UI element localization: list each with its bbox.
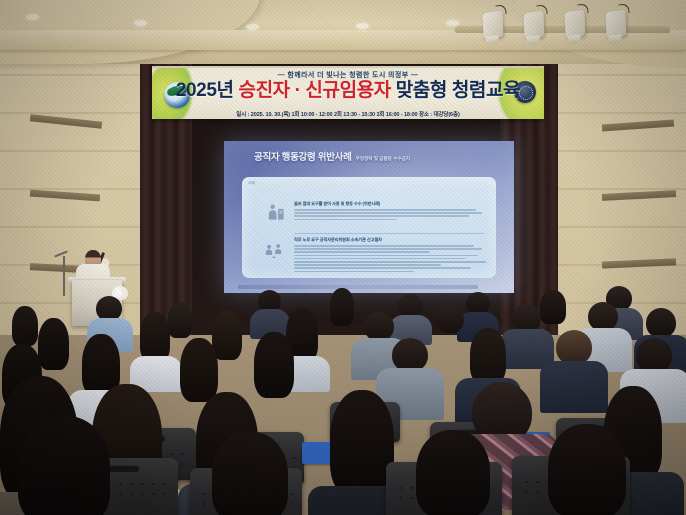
slide-block-2-heading: 직무 노무 요구 공직자윤리위원회 소속기관 신고절차 bbox=[294, 237, 488, 243]
slide-card-tag: 사례 bbox=[248, 181, 255, 186]
person-document-icon bbox=[266, 203, 286, 223]
slide-title-row: 공직자 행동강령 위반사례부정청탁 및 금품등 수수금지 bbox=[254, 149, 410, 163]
recessed-ceiling-light bbox=[246, 24, 259, 30]
banner-schedule: 일시 : 2025. 10. 30.(목) 1회 10:00 - 12:00 2… bbox=[152, 110, 544, 118]
banner-title: 2025년 승진자 · 신규임용자 맞춤형 청렴교육 bbox=[152, 80, 544, 101]
ceiling-track-spotlight bbox=[524, 11, 545, 40]
slide-title: 공직자 행동강령 위반사례 bbox=[254, 152, 352, 163]
wall-accent-strip bbox=[602, 119, 674, 131]
banner-title-highlight: 승진자 · 신규임용자 bbox=[238, 80, 390, 101]
banner-title-year: 2025년 bbox=[176, 80, 234, 101]
slide-content-card: 사례 골프 접대 요구를 받아 사용 및 향응 수수 (위반사례) bbox=[242, 177, 496, 278]
slide-block-1-heading: 골프 접대 요구를 받아 사용 및 향응 수수 (위반사례) bbox=[294, 201, 484, 207]
recessed-ceiling-light bbox=[446, 20, 459, 26]
slide-title-suffix: 부정청탁 및 금품등 수수금지 bbox=[356, 156, 411, 161]
recessed-ceiling-light bbox=[356, 23, 369, 29]
banner-tagline: — 함께라서 더 빛나는 청렴한 도시 의정부 — bbox=[152, 70, 544, 80]
people-group-icon bbox=[264, 241, 284, 261]
slide-block-2: 직무 노무 요구 공직자윤리위원회 소속기관 신고절차 bbox=[294, 237, 488, 274]
wall-accent-strip bbox=[602, 190, 676, 201]
banner-title-rest: 맞춤형 청렴교육 bbox=[396, 80, 520, 101]
ceiling-track-spotlight bbox=[483, 11, 504, 40]
ceiling-track-spotlight bbox=[606, 10, 627, 39]
recessed-ceiling-light bbox=[26, 14, 39, 20]
wall-accent-strip bbox=[30, 190, 100, 202]
slide-divider bbox=[294, 233, 484, 234]
wall-accent-strip bbox=[30, 114, 102, 128]
ceiling bbox=[0, 0, 686, 64]
slide-block-1: 골프 접대 요구를 받아 사용 및 향응 수수 (위반사례) bbox=[294, 201, 484, 222]
projection-screen: 공직자 행동강령 위반사례부정청탁 및 금품등 수수금지 사례 골프 접대 요구… bbox=[224, 141, 514, 293]
ceiling-track-spotlight bbox=[565, 10, 586, 39]
audience-area bbox=[0, 282, 686, 515]
recessed-ceiling-light bbox=[134, 20, 147, 26]
wall-accent-strip bbox=[602, 258, 676, 268]
lecture-hall-photo: — 함께라서 더 빛나는 청렴한 도시 의정부 — 2025년 승진자 · 신규… bbox=[0, 0, 686, 515]
event-banner: — 함께라서 더 빛나는 청렴한 도시 의정부 — 2025년 승진자 · 신규… bbox=[152, 66, 544, 119]
